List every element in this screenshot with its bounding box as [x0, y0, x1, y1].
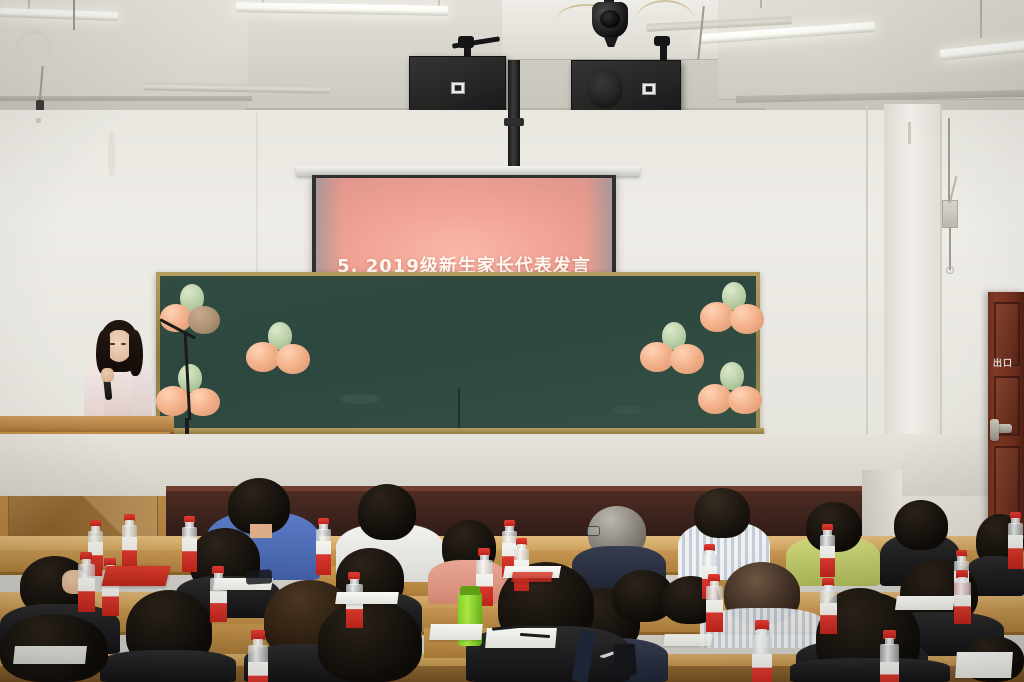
chalkboard-panel-split: [458, 388, 460, 432]
balloon-cluster-2: [246, 322, 312, 380]
row1-person-black-top-head: [894, 500, 948, 550]
ceiling-speaker-left: [409, 56, 506, 117]
row1-person-white-tee-head: [358, 484, 416, 540]
door-sign: 出口: [993, 356, 1023, 369]
presenter-hair-right-strand: [129, 330, 143, 376]
balloon-peach-right: [188, 306, 220, 334]
balloon-peach-right: [728, 386, 762, 414]
wall-mark-2: [36, 118, 41, 123]
balloon-peach-right: [186, 388, 220, 416]
wall-box-cord-bottom: [949, 228, 951, 270]
row1-person-gray-glasses: [586, 526, 600, 536]
balloon-peach-right: [730, 304, 764, 334]
balloon-peach-right: [276, 344, 310, 374]
speaker-left-badge: [451, 82, 465, 94]
presenter-hand: [101, 368, 114, 382]
smartphone[interactable]: [613, 643, 637, 676]
balloon-peach-left: [246, 342, 280, 372]
presenter-arm-right: [132, 368, 152, 422]
paper-sheet-9[interactable]: [663, 634, 713, 646]
wall-switch-box[interactable]: [942, 200, 958, 228]
row3-person-right-body: [790, 658, 950, 682]
paper-sheet-7[interactable]: [955, 652, 1013, 678]
tablet-device[interactable]: [246, 569, 273, 584]
light-rod-5: [980, 0, 982, 38]
wall-hook-left: [908, 122, 911, 144]
projector-pole-joint: [504, 118, 524, 126]
paper-sheet-5[interactable]: [485, 628, 557, 648]
chalkboard-smudge-1: [340, 394, 380, 404]
wall-cord-ring: [946, 266, 954, 274]
speaker-right-cone: [587, 69, 623, 109]
wall-box-cord-top: [948, 118, 950, 202]
paper-sheet-2[interactable]: [335, 592, 399, 604]
presenter-eye-left: [110, 343, 115, 345]
wall-seam-right: [866, 104, 868, 434]
balloon-cluster-1: [160, 284, 224, 340]
red-folder-1[interactable]: [102, 566, 171, 586]
balloon-peach-left: [156, 386, 190, 416]
paper-sheet-6[interactable]: [895, 596, 955, 610]
row2-person-woman-body: [100, 650, 236, 682]
wall-mark-1: [108, 132, 115, 176]
balloon-peach-left: [698, 384, 732, 414]
balloon-peach-left: [640, 342, 674, 372]
speaker-right-badge: [642, 83, 656, 95]
ceiling-cable-1: [73, 0, 75, 30]
chalkboard-smudge-2: [612, 406, 642, 414]
wall-pillar-right: [884, 104, 942, 434]
ceiling-speaker-right: [571, 60, 681, 117]
balloon-cluster-4: [700, 282, 766, 340]
row1-person-striped-head: [694, 488, 750, 538]
light-rod-4: [760, 0, 762, 8]
paper-sheet-8[interactable]: [13, 646, 87, 664]
camera-lens-icon: [600, 10, 620, 28]
door-lock-plate: [990, 419, 999, 441]
balloon-cluster-5: [640, 322, 706, 380]
balloon-cluster-6: [698, 362, 764, 420]
row3-person-left-head: [318, 600, 422, 682]
lecture-hall-photo: 5. 2019级新生家长代表发言: [0, 0, 1024, 682]
speaker-left-pivot: [458, 36, 474, 48]
red-folder-2[interactable]: [511, 572, 553, 582]
green-bottle-cap: [460, 586, 480, 595]
row1-person-blue-polo-neck: [250, 524, 272, 538]
presenter-eye-right: [121, 343, 126, 345]
paper-sheet-4[interactable]: [429, 624, 483, 640]
wall-seam-right-2: [940, 104, 942, 434]
